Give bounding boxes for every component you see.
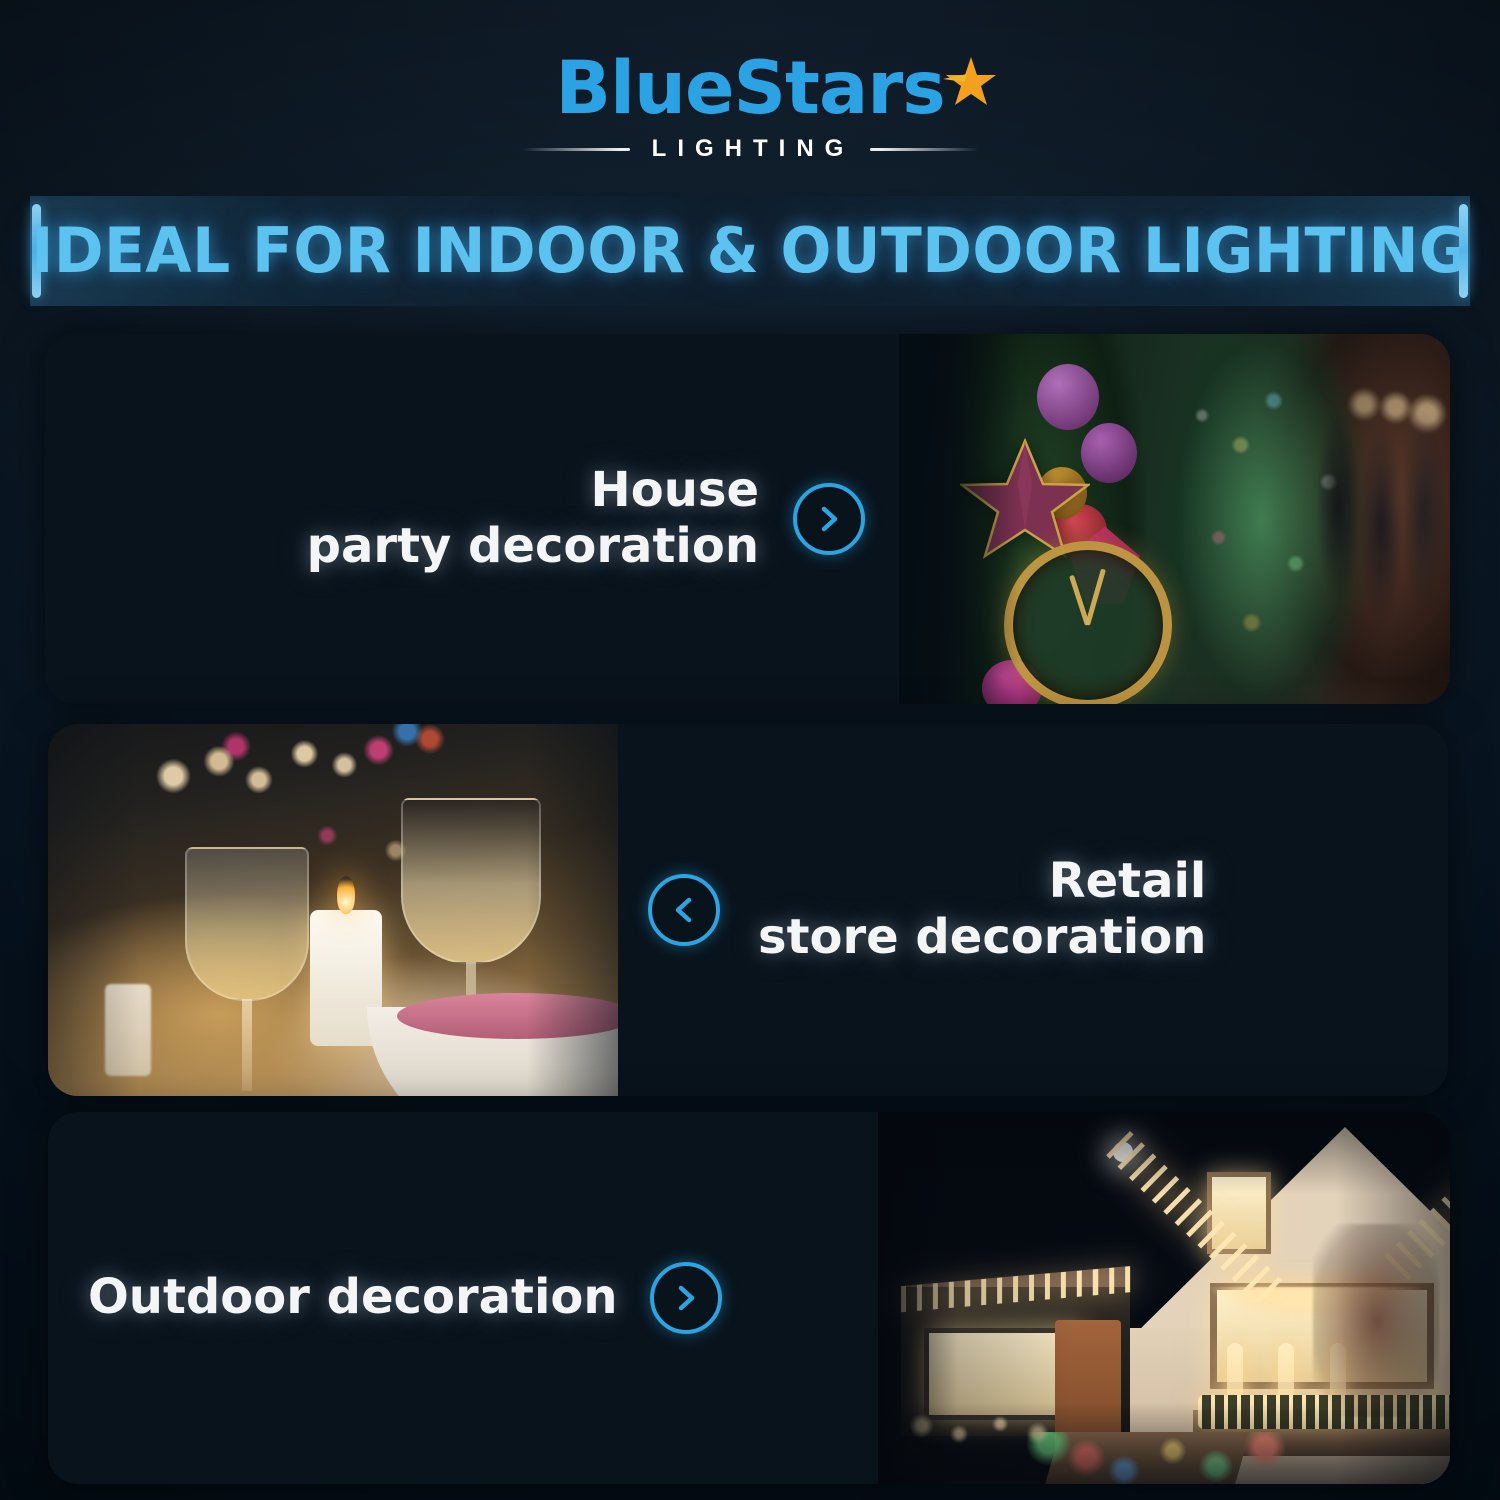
card-label: House party decoration (307, 463, 759, 574)
card-label: Retail store decoration (758, 854, 1206, 965)
card-photo-house-lights (878, 1112, 1450, 1484)
brand-tagline-row: LIGHTING (0, 135, 1500, 163)
card-label: Outdoor decoration (88, 1270, 618, 1326)
brand-name-part1: Blue (555, 46, 733, 131)
card-label-line1: Outdoor decoration (88, 1270, 618, 1326)
ornament-bauble (1037, 364, 1099, 430)
brand-tagline: LIGHTING (646, 135, 855, 163)
feature-card-retail-store[interactable]: Retail store decoration (48, 724, 1448, 1096)
tagline-rule-right (870, 148, 978, 151)
photo-vignette (878, 1112, 1450, 1484)
card-label-line2: store decoration (758, 910, 1206, 966)
tagline-rule-left (522, 148, 630, 151)
card-photo-party-table (48, 724, 618, 1096)
background-shoppers (1307, 364, 1450, 675)
brand-wordmark: BlueStars (555, 52, 944, 125)
page-title: IDEAL FOR INDOOR & OUTDOOR LIGHTING (4, 220, 1496, 282)
feature-card-outdoor[interactable]: Outdoor decoration (48, 1112, 1450, 1484)
photo-left-fade (899, 334, 1020, 704)
banner-bar-right (1459, 204, 1468, 298)
chevron-right-icon[interactable] (793, 483, 865, 555)
ornament-clock (1004, 541, 1172, 704)
card-text-pane: House party decoration (45, 334, 899, 704)
chevron-left-icon[interactable] (648, 874, 720, 946)
chevron-right-icon[interactable] (650, 1262, 722, 1334)
headline-banner: IDEAL FOR INDOOR & OUTDOOR LIGHTING (30, 196, 1470, 306)
card-photo-christmas-tree (899, 334, 1450, 704)
brand-logo: BlueStars LIGHTING (0, 52, 1500, 163)
star-icon (941, 48, 997, 104)
feature-card-house-party[interactable]: House party decoration (45, 334, 1450, 704)
card-text-pane: Retail store decoration (618, 724, 1448, 1096)
photo-edge-fade (48, 724, 618, 1096)
card-text-pane: Outdoor decoration (48, 1112, 878, 1484)
card-label-line1: Retail (758, 854, 1206, 910)
card-label-line2: party decoration (307, 519, 759, 575)
brand-name-part2: Stars (733, 46, 944, 131)
card-label-line1: House (307, 463, 759, 519)
